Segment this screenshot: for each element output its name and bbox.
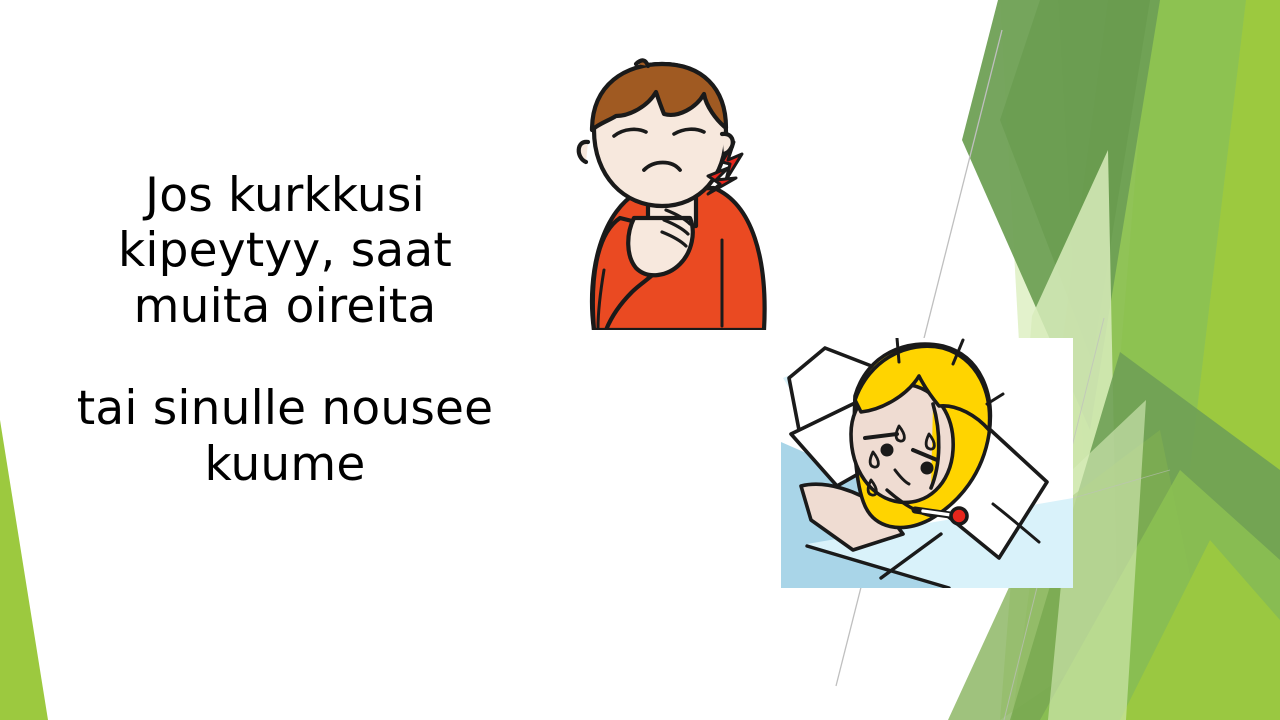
girl-fever-icon xyxy=(781,338,1073,588)
girl-eye-right xyxy=(921,462,934,475)
paragraph-one: Jos kurkkusi kipeytyy, saat muita oireit… xyxy=(60,168,510,334)
slide-canvas: Jos kurkkusi kipeytyy, saat muita oireit… xyxy=(0,0,1280,720)
shard-bottom-brightest xyxy=(1120,540,1280,720)
boy-ear-left xyxy=(579,142,588,162)
shard-dark-top-overlay xyxy=(1000,0,1150,360)
shard-bright-right-edge xyxy=(1160,0,1280,720)
boy-sore-throat-icon xyxy=(556,58,802,330)
shard-bright-right xyxy=(1090,0,1280,720)
shard-pale-wash-2 xyxy=(1058,0,1280,720)
girl-thermometer-bulb xyxy=(951,508,967,524)
girl-eye-left xyxy=(881,444,894,457)
shard-bottom-bright xyxy=(1040,470,1280,720)
fever-tick-1 xyxy=(897,338,899,362)
paragraph-two: tai sinulle nousee kuume xyxy=(60,381,510,492)
boy-with-sore-throat-image xyxy=(556,58,802,330)
paragraph-spacer xyxy=(60,334,510,381)
slide-body-text: Jos kurkkusi kipeytyy, saat muita oireit… xyxy=(60,168,510,492)
left-green-wedge xyxy=(0,420,48,720)
girl-with-fever-in-bed-image xyxy=(781,338,1073,588)
